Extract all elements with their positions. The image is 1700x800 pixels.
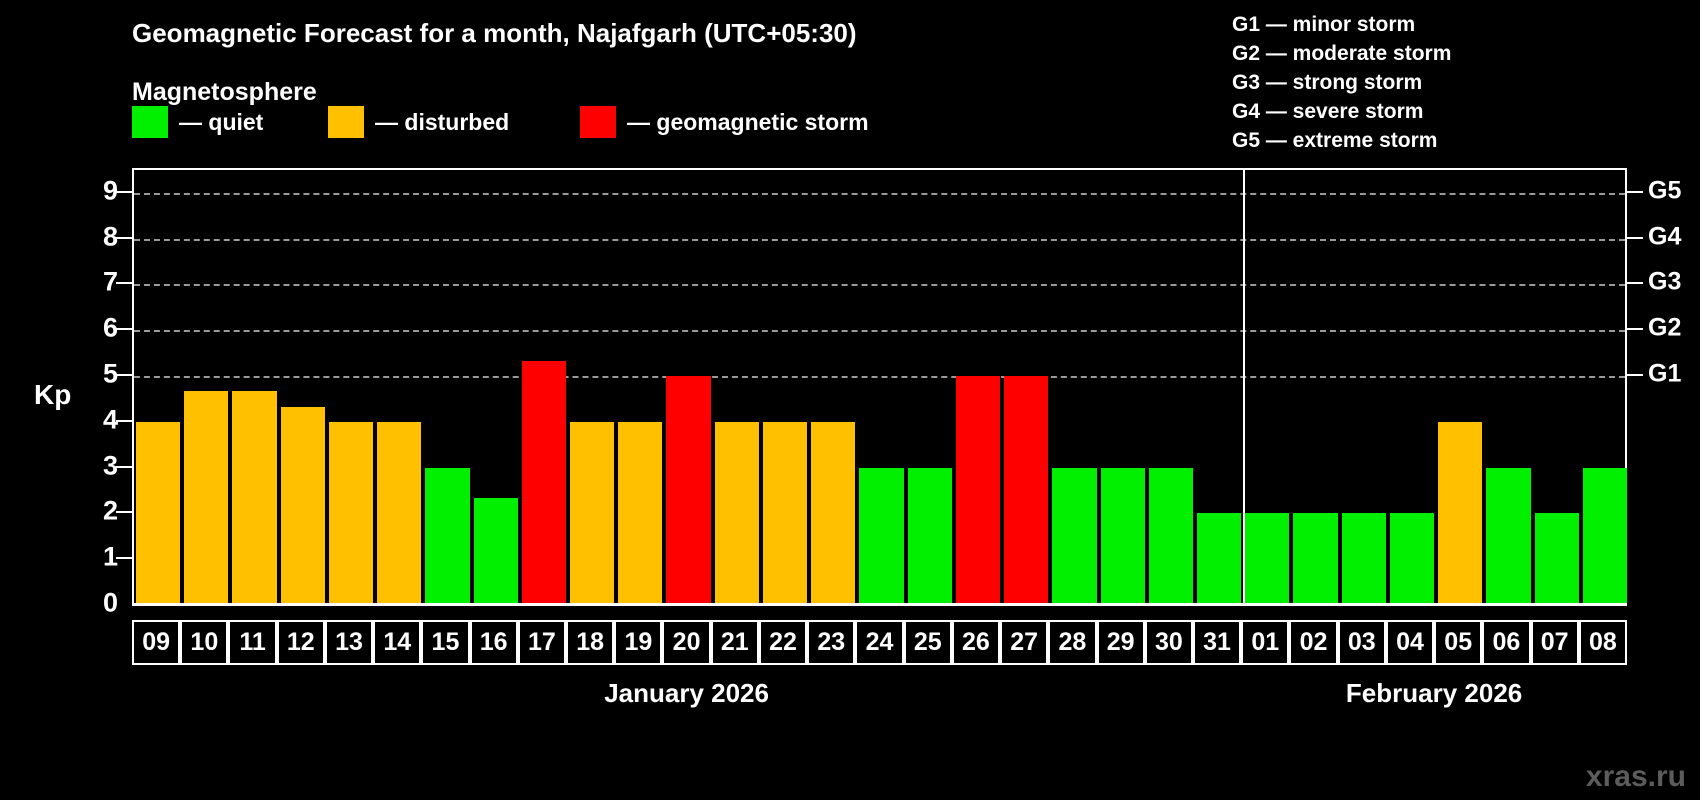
g-tick-mark-G1 [1627, 374, 1643, 376]
g-tick-label-G1: G1 [1648, 360, 1681, 389]
bar-day-24 [859, 468, 903, 605]
y-tick-label-4: 4 [78, 404, 118, 435]
day-label-15[interactable]: 15 [421, 620, 469, 665]
month-caption-february: February 2026 [1346, 678, 1522, 709]
gridline-kp-9 [134, 193, 1625, 195]
day-label-01[interactable]: 01 [1241, 620, 1289, 665]
day-label-text: 03 [1348, 630, 1376, 655]
gridline-kp-6 [134, 330, 1625, 332]
day-label-text: 12 [287, 630, 315, 655]
day-label-08[interactable]: 08 [1579, 620, 1627, 665]
day-label-18[interactable]: 18 [566, 620, 614, 665]
day-label-text: 04 [1396, 630, 1424, 655]
y-tick-label-0: 0 [78, 588, 118, 619]
day-label-29[interactable]: 29 [1097, 620, 1145, 665]
day-label-21[interactable]: 21 [711, 620, 759, 665]
legend-item-label: — quiet [179, 109, 263, 136]
day-label-14[interactable]: 14 [373, 620, 421, 665]
y-tick-label-8: 8 [78, 221, 118, 252]
month-divider [1243, 170, 1245, 605]
y-tick-mark-4 [116, 420, 132, 422]
day-label-text: 27 [1010, 630, 1038, 655]
legend-item-label: — geomagnetic storm [627, 109, 869, 136]
x-axis-baseline [132, 603, 1627, 606]
legend-swatch-icon [580, 106, 616, 138]
y-tick-mark-9 [116, 191, 132, 193]
y-tick-mark-7 [116, 282, 132, 284]
legend-item-quiet: — quiet [132, 106, 263, 138]
magnetosphere-label: Magnetosphere [132, 78, 317, 107]
day-label-text: 11 [239, 630, 265, 655]
day-label-text: 25 [914, 630, 942, 655]
g-tick-mark-G2 [1627, 328, 1643, 330]
day-label-09[interactable]: 09 [132, 620, 180, 665]
day-label-text: 19 [624, 630, 652, 655]
page-title: Geomagnetic Forecast for a month, Najafg… [132, 18, 857, 49]
gridline-kp-8 [134, 239, 1625, 241]
y-tick-label-1: 1 [78, 542, 118, 573]
bar-day-31 [1197, 513, 1241, 605]
bar-day-20 [666, 376, 710, 605]
day-label-30[interactable]: 30 [1145, 620, 1193, 665]
day-label-23[interactable]: 23 [807, 620, 855, 665]
g-tick-label-G3: G3 [1648, 268, 1681, 297]
bar-day-13 [329, 422, 373, 605]
bar-day-19 [618, 422, 662, 605]
bar-day-05 [1438, 422, 1482, 605]
bar-day-07 [1535, 513, 1579, 605]
bar-day-23 [811, 422, 855, 605]
day-label-text: 07 [1541, 630, 1569, 655]
g-tick-mark-G4 [1627, 237, 1643, 239]
bar-day-06 [1486, 468, 1530, 605]
day-label-text: 28 [1058, 630, 1086, 655]
day-label-text: 08 [1589, 630, 1617, 655]
day-label-03[interactable]: 03 [1338, 620, 1386, 665]
gridline-kp-5 [134, 376, 1625, 378]
g-tick-label-G2: G2 [1648, 314, 1681, 343]
day-label-text: 31 [1203, 630, 1231, 655]
bar-day-18 [570, 422, 614, 605]
day-label-text: 21 [721, 630, 749, 655]
y-tick-label-5: 5 [78, 359, 118, 390]
plot-area [132, 168, 1627, 605]
bar-day-17 [522, 361, 566, 605]
bar-day-04 [1390, 513, 1434, 605]
y-tick-label-7: 7 [78, 267, 118, 298]
day-axis: 0910111213141516171819202122232425262728… [132, 620, 1627, 665]
bar-day-29 [1101, 468, 1145, 605]
y-tick-label-3: 3 [78, 450, 118, 481]
day-label-22[interactable]: 22 [759, 620, 807, 665]
day-label-text: 16 [480, 630, 508, 655]
bar-day-11 [232, 391, 276, 605]
g-tick-label-G4: G4 [1648, 222, 1681, 251]
bar-day-25 [908, 468, 952, 605]
y-tick-mark-6 [116, 328, 132, 330]
y-tick-label-2: 2 [78, 496, 118, 527]
day-label-text: 18 [576, 630, 604, 655]
day-label-13[interactable]: 13 [325, 620, 373, 665]
bar-day-01 [1245, 513, 1289, 605]
y-tick-mark-2 [116, 511, 132, 513]
y-tick-mark-8 [116, 237, 132, 239]
day-label-text: 10 [190, 630, 218, 655]
day-label-text: 20 [673, 630, 701, 655]
day-label-text: 22 [769, 630, 797, 655]
day-label-11[interactable]: 11 [228, 620, 276, 665]
bar-day-15 [425, 468, 469, 605]
day-label-31[interactable]: 31 [1193, 620, 1241, 665]
day-label-04[interactable]: 04 [1386, 620, 1434, 665]
plot-inner [134, 170, 1625, 605]
bar-day-12 [281, 407, 325, 605]
day-label-12[interactable]: 12 [277, 620, 325, 665]
day-label-16[interactable]: 16 [470, 620, 518, 665]
bar-day-02 [1293, 513, 1337, 605]
day-label-26[interactable]: 26 [952, 620, 1000, 665]
g-tick-label-G5: G5 [1648, 176, 1681, 205]
day-label-text: 05 [1444, 630, 1472, 655]
y-tick-label-9: 9 [78, 175, 118, 206]
bar-day-30 [1149, 468, 1193, 605]
day-label-25[interactable]: 25 [904, 620, 952, 665]
g-tick-mark-G3 [1627, 282, 1643, 284]
day-label-20[interactable]: 20 [662, 620, 710, 665]
g-legend-row-1: G1 — minor storm [1232, 10, 1451, 39]
g-scale-legend: G1 — minor stormG2 — moderate stormG3 — … [1232, 10, 1451, 155]
bar-day-21 [715, 422, 759, 605]
day-label-28[interactable]: 28 [1048, 620, 1096, 665]
day-label-07[interactable]: 07 [1531, 620, 1579, 665]
y-tick-mark-5 [116, 374, 132, 376]
g-legend-row-2: G2 — moderate storm [1232, 39, 1451, 68]
day-label-27[interactable]: 27 [1000, 620, 1048, 665]
legend-item-disturbed: — disturbed [328, 106, 509, 138]
bar-day-09 [136, 422, 180, 605]
day-label-text: 17 [528, 630, 556, 655]
gridline-kp-7 [134, 284, 1625, 286]
g-legend-row-5: G5 — extreme storm [1232, 126, 1451, 155]
day-label-text: 30 [1155, 630, 1183, 655]
day-label-10[interactable]: 10 [180, 620, 228, 665]
legend-swatch-icon [328, 106, 364, 138]
bar-day-22 [763, 422, 807, 605]
bar-day-26 [956, 376, 1000, 605]
bar-day-14 [377, 422, 421, 605]
watermark: xras.ru [1586, 760, 1686, 794]
day-label-text: 15 [432, 630, 460, 655]
month-caption-january: January 2026 [604, 678, 769, 709]
bar-day-28 [1052, 468, 1096, 605]
bar-day-10 [184, 391, 228, 605]
bar-day-08 [1583, 468, 1627, 605]
y-tick-mark-1 [116, 557, 132, 559]
day-label-text: 02 [1300, 630, 1328, 655]
day-label-text: 06 [1493, 630, 1521, 655]
y-tick-mark-3 [116, 466, 132, 468]
day-label-24[interactable]: 24 [855, 620, 903, 665]
bar-day-03 [1342, 513, 1386, 605]
day-label-02[interactable]: 02 [1289, 620, 1337, 665]
day-label-text: 26 [962, 630, 990, 655]
day-label-text: 29 [1107, 630, 1135, 655]
g-tick-mark-G5 [1627, 191, 1643, 193]
bar-day-16 [474, 498, 518, 605]
day-label-text: 14 [383, 630, 411, 655]
bar-day-27 [1004, 376, 1048, 605]
day-label-text: 09 [142, 630, 170, 655]
g-legend-row-3: G3 — strong storm [1232, 68, 1451, 97]
day-label-05[interactable]: 05 [1434, 620, 1482, 665]
day-label-17[interactable]: 17 [518, 620, 566, 665]
day-label-text: 24 [866, 630, 894, 655]
day-label-19[interactable]: 19 [614, 620, 662, 665]
legend-item-geomagneticstorm: — geomagnetic storm [580, 106, 869, 138]
y-axis-title: Kp [34, 379, 71, 411]
g-legend-row-4: G4 — severe storm [1232, 97, 1451, 126]
day-label-text: 13 [335, 630, 363, 655]
legend-item-label: — disturbed [375, 109, 509, 136]
day-label-text: 01 [1251, 630, 1279, 655]
y-tick-label-6: 6 [78, 313, 118, 344]
day-label-06[interactable]: 06 [1482, 620, 1530, 665]
day-label-text: 23 [817, 630, 845, 655]
legend-swatch-icon [132, 106, 168, 138]
